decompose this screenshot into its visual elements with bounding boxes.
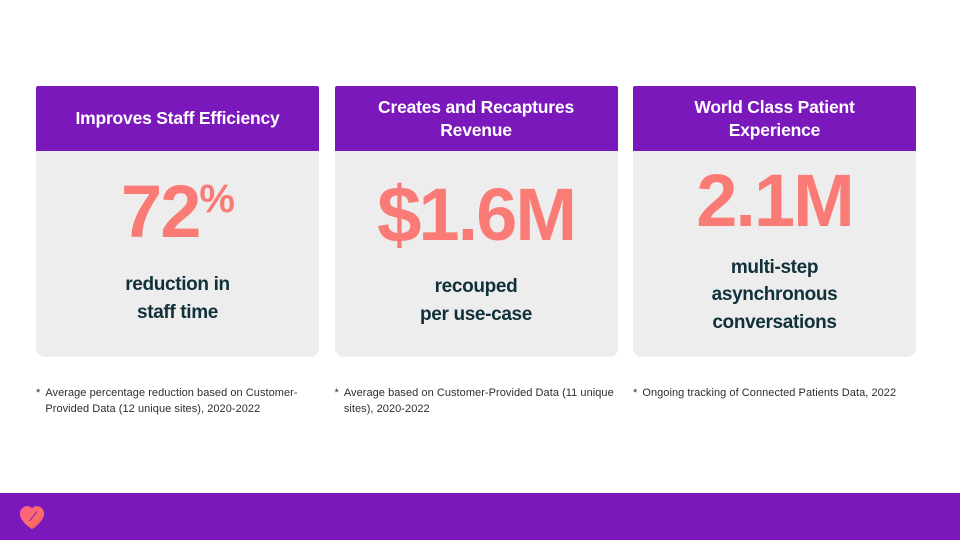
heart-logo-icon [18, 504, 46, 530]
stat-value-revenue: $1.6M [377, 173, 575, 253]
stat-card-patient-experience: World Class Patient Experience 2.1M mult… [633, 86, 916, 357]
stat-value-patient-experience: 2.1M [696, 164, 853, 238]
stat-card-staff-efficiency: Improves Staff Efficiency 72% reduction … [36, 86, 319, 357]
footnote-patient-experience: * Ongoing tracking of Connected Patients… [633, 386, 916, 417]
card-body-revenue: $1.6M recouped per use-case [335, 151, 618, 357]
stat-main-number: 2.1M [696, 164, 853, 238]
card-header-revenue: Creates and Recaptures Revenue [335, 86, 618, 151]
stat-caption-revenue: recouped per use-case [420, 273, 532, 328]
footnote-group: * Average percentage reduction based on … [36, 386, 916, 417]
card-body-staff-efficiency: 72% reduction in staff time [36, 151, 319, 357]
stat-caption-line: recouped [420, 273, 532, 301]
stat-main-number: 72 [121, 175, 199, 249]
stat-caption-line: conversations [712, 309, 838, 337]
footnote-text: Average percentage reduction based on Cu… [45, 386, 319, 417]
stat-caption-line: staff time [125, 299, 230, 327]
footnote-marker: * [36, 386, 40, 417]
stat-suffix-percent: % [199, 179, 234, 219]
stat-caption-line: reduction in [125, 271, 230, 299]
footnote-text: Average based on Customer-Provided Data … [344, 386, 618, 417]
stat-caption-line: multi-step [712, 254, 838, 282]
card-header-title: Improves Staff Efficiency [75, 107, 279, 129]
card-header-patient-experience: World Class Patient Experience [633, 86, 916, 151]
footnote-text: Ongoing tracking of Connected Patients D… [642, 386, 916, 417]
stat-card-group: Improves Staff Efficiency 72% reduction … [36, 86, 916, 357]
footnote-marker: * [335, 386, 339, 417]
footnote-revenue: * Average based on Customer-Provided Dat… [335, 386, 618, 417]
footer-bar [0, 493, 960, 540]
stat-caption-line: per use-case [420, 301, 532, 329]
stat-caption-staff-efficiency: reduction in staff time [125, 271, 230, 326]
card-header-title: World Class Patient Experience [647, 96, 902, 140]
card-body-patient-experience: 2.1M multi-step asynchronous conversatio… [633, 151, 916, 357]
card-header-title: Creates and Recaptures Revenue [349, 96, 604, 140]
card-header-staff-efficiency: Improves Staff Efficiency [36, 86, 319, 151]
stat-value-staff-efficiency: 72% [121, 175, 234, 249]
footnote-staff-efficiency: * Average percentage reduction based on … [36, 386, 319, 417]
stat-main-number: 1.6M [418, 178, 575, 252]
stat-prefix-dollar: $ [377, 175, 419, 255]
stat-caption-line: asynchronous [712, 281, 838, 309]
stat-card-revenue: Creates and Recaptures Revenue $1.6M rec… [335, 86, 618, 357]
footnote-marker: * [633, 386, 637, 417]
stat-caption-patient-experience: multi-step asynchronous conversations [712, 254, 838, 337]
slide-canvas: Improves Staff Efficiency 72% reduction … [0, 0, 960, 540]
